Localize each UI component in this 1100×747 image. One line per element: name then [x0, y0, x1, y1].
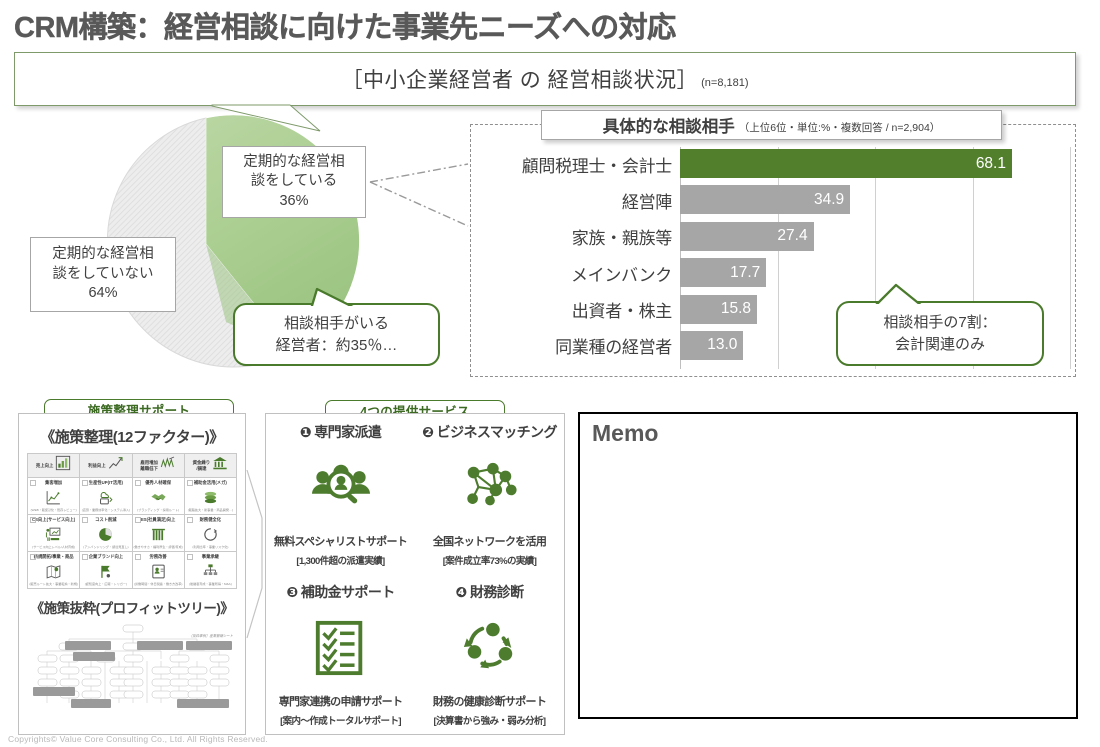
factor-cell-3[interactable]: 優秀人材確保(ブランディング・採用ルート)	[133, 478, 185, 515]
factor-icon	[150, 526, 167, 543]
service-number: ❶	[300, 424, 311, 440]
callout-tail-icon	[303, 286, 363, 310]
factor-header-4[interactable]: 資金繰り/調達	[185, 454, 237, 478]
factor-checkbox[interactable]	[82, 480, 88, 486]
bar-category-label: 家族・親族等	[478, 220, 672, 254]
factor-cell-2[interactable]: 生産性UP(IT活用)(店頭・業務効率化・システム導入)	[80, 478, 132, 515]
bar-category-label: 同業種の経営者	[478, 329, 672, 363]
factor-cell-sub: (販路拡大・新事業・商品開発…)	[188, 509, 233, 512]
factor-checkbox[interactable]	[135, 554, 141, 560]
bar-chart-icon	[55, 455, 71, 476]
service-title: ❸ 補助金サポート	[286, 582, 394, 602]
pie-label-has-consult: 定期的な経営相 談をしている 36%	[222, 146, 366, 218]
factor-checkbox[interactable]	[187, 554, 193, 560]
bar-chart-row: 家族・親族等27.4	[478, 220, 1070, 254]
factor-cell-1[interactable]: 集客増加(WEB・販促강化・既存レビュー)	[28, 478, 80, 515]
pie-label-has-consult-value: 36%	[279, 192, 308, 212]
profit-tree-note: ［抜粋事例］産業整理シート	[189, 634, 234, 638]
pie-label-no-consult-value: 64%	[88, 284, 117, 304]
bar-fill: 68.1	[680, 149, 1012, 178]
bar-fill: 34.9	[680, 185, 850, 214]
factor-checkbox[interactable]	[82, 554, 88, 560]
panel-policy-heading: 《施策整理(12ファクター)》	[19, 426, 245, 447]
factor-cell-sub: (ブランディング・採用ルート)	[137, 509, 179, 512]
bar-track: 27.4	[680, 220, 1070, 254]
service-desc-secondary: [案内～作成トータルサポート]	[280, 713, 401, 727]
bar-category-label: 経営陣	[478, 183, 672, 217]
map-pin-icon	[45, 559, 62, 583]
factor-icon	[202, 526, 219, 543]
factor-cell-sub: (利用比率・事業リスク化)	[192, 546, 228, 549]
factor-cell-9[interactable]: 新規開拓/事業・商品(販売ルート拡大・事業転換・新規)	[28, 552, 80, 589]
id-card-icon	[150, 559, 167, 583]
factor-cell-sub: (認知度向上・広報・トリガー)	[85, 583, 127, 586]
service-desc-primary: 無料スペシャリストサポート	[274, 533, 407, 549]
factor-icon	[97, 526, 114, 543]
factor-cell-sub: (後継者育成・事業所得・M&A)	[189, 583, 232, 586]
pie-label-has-consult-line1: 定期的な経営相	[243, 153, 345, 173]
survey-banner-title: ［中小企業経営者 の 経営相談状況］	[341, 64, 698, 94]
factor-cell-sub: (サービス向上レベル/人材育成)	[32, 546, 75, 549]
service-number: ❸	[286, 584, 297, 600]
factor-checkbox[interactable]	[135, 517, 141, 523]
service-desc-primary: 専門家連携の申請サポート	[279, 693, 403, 709]
footer-copyright: Copyrights© Value Core Consulting Co., L…	[8, 734, 268, 744]
profit-tree-heading: 《施策抜粋(プロフィットツリー)》	[19, 597, 245, 617]
scatter-icon	[45, 485, 62, 509]
factor-cell-12[interactable]: 事業承継(後継者育成・事業所得・M&A)	[185, 552, 237, 589]
service-title: ❹ 財務診断	[455, 582, 523, 602]
service-card-1[interactable]: ❶ 専門家派遣無料スペシャリストサポート[1,300件超の派遣実績]	[266, 414, 415, 574]
factor-header-label: 利益向上	[88, 463, 106, 468]
bar-fill: 13.0	[680, 331, 743, 360]
factor-checkbox[interactable]	[187, 517, 193, 523]
service-desc-secondary: [1,300件超の派遣実績]	[296, 553, 384, 567]
bar-fill: 15.8	[680, 295, 757, 324]
factor-icon	[150, 563, 167, 580]
service-card-4[interactable]: ❹ 財務診断財務の健康診断サポート[決算書から強み・弱み分析]	[415, 574, 564, 734]
factor-header-label: 雇用増加離職低下	[140, 460, 158, 470]
cloud-pc-icon	[97, 485, 114, 509]
flag-icon	[97, 559, 114, 583]
network-icon	[461, 442, 519, 533]
service-desc-primary: 財務の健康診断サポート	[433, 693, 546, 709]
bar-track: 34.9	[680, 183, 1070, 217]
callout-accounting-only-line1: 相談相手の7割：	[883, 312, 996, 334]
factor-header-3[interactable]: 雇用増加離職低下	[133, 454, 185, 478]
service-card-3[interactable]: ❸ 補助金サポート専門家連携の申請サポート[案内～作成トータルサポート]	[266, 574, 415, 734]
bar-category-label: メインバンク	[478, 256, 672, 290]
factor-icon	[202, 563, 219, 580]
bar-chart-row: 顧問税理士・会計士68.1	[478, 147, 1070, 181]
factor-checkbox[interactable]	[82, 517, 88, 523]
survey-banner: ［中小企業経営者 の 経営相談状況］ (n=8,181)	[14, 52, 1076, 106]
pie-label-has-consult-line2: 談をしている	[251, 172, 338, 192]
factor-icon	[45, 489, 62, 506]
pie-icon	[97, 522, 114, 546]
bar-chart-title-main: 具体的な相談相手	[603, 113, 735, 137]
people-search-icon	[312, 442, 370, 533]
cycle-icon	[202, 522, 219, 546]
factor-grid: 売上向上利益向上雇用増加離職低下資金繰り/調達集客増加(WEB・販促강化・既存レ…	[27, 453, 237, 589]
factor-icon	[160, 455, 176, 471]
factor-checkbox[interactable]	[187, 480, 193, 486]
factor-icon	[108, 455, 124, 471]
factor-checkbox[interactable]	[30, 480, 36, 486]
pie-label-no-consult-line1: 定期的な経営相	[52, 245, 154, 265]
factor-icon	[97, 489, 114, 506]
factor-header-label: 資金繰り/調達	[193, 460, 211, 470]
factor-cell-7[interactable]: ES(社員満足)向上(働きやすさ・福利厚生・評価/育成)	[133, 515, 185, 552]
callout-tail-icon	[866, 283, 930, 308]
org-chart-icon	[202, 559, 219, 583]
factor-cell-5[interactable]: CS向上(サービス向上)(サービス向上レベル/人材育成)	[28, 515, 80, 552]
line-chart-icon	[108, 455, 124, 476]
panel-policy-organize: 《施策整理(12ファクター)》 売上向上利益向上雇用増加離職低下資金繰り/調達集…	[18, 413, 246, 735]
factor-icon	[45, 526, 62, 543]
factor-cell-sub: (働きやすさ・福利厚生・評価/育成)	[133, 546, 182, 549]
handshake-icon	[150, 485, 167, 509]
checklist-icon	[312, 602, 370, 693]
factor-header-label: 売上向上	[36, 463, 54, 468]
pie-to-bar-connector	[368, 160, 478, 235]
bar-gridline	[1070, 147, 1071, 369]
bar-category-label: 出資者・株主	[478, 293, 672, 327]
factor-cell-sub: (店頭・業務効率化・システム導入)	[82, 509, 130, 512]
memo-label: Memo	[592, 420, 658, 447]
service-card-2[interactable]: ❷ ビジネスマッチング全国ネットワークを活用[案件成立率73%の実績]	[415, 414, 564, 574]
factor-cell-sub: (アンバンドリング・調達見直し)	[83, 546, 128, 549]
service-number: ❷	[422, 424, 433, 440]
panel-four-services: ❶ 専門家派遣無料スペシャリストサポート[1,300件超の派遣実績]❷ ビジネス…	[265, 413, 565, 735]
bar-fill: 17.7	[680, 258, 766, 287]
factor-checkbox[interactable]	[30, 554, 36, 560]
profit-tree-diagram: ［抜粋事例］産業整理シート	[29, 621, 235, 713]
factor-cell-10[interactable]: 企業ブランド向上(認知度向上・広報・トリガー)	[80, 552, 132, 589]
callout-consult-partner-line2: 経営者：約35％…	[276, 335, 398, 357]
factor-cell-4[interactable]: 補助金活用(メガ)(販路拡大・新事業・商品開発…)	[185, 478, 237, 515]
service-desc-secondary: [決算書から強み・弱み分析]	[434, 713, 546, 727]
pie-label-no-consult: 定期的な経営相 談をしていない 64%	[30, 237, 176, 312]
factor-checkbox[interactable]	[135, 480, 141, 486]
factor-header-2[interactable]: 利益向上	[80, 454, 132, 478]
callout-consult-partner-line1: 相談相手がいる	[284, 313, 389, 335]
factor-cell-sub: (WEB・販促강化・既存レビュー)	[31, 509, 77, 512]
survey-banner-note: (n=8,181)	[701, 77, 748, 89]
bar-fill: 27.4	[680, 222, 814, 251]
factor-cell-6[interactable]: コスト削減(アンバンドリング・調達見直し)	[80, 515, 132, 552]
memo-box[interactable]: Memo	[578, 412, 1078, 719]
service-desc-primary: 全国ネットワークを活用	[433, 533, 546, 549]
factor-cell-8[interactable]: 財務健全化(利用比率・事業リスク化)	[185, 515, 237, 552]
service-title: ❶ 専門家派遣	[300, 422, 382, 442]
factor-icon	[55, 455, 71, 471]
people-chart-icon	[160, 455, 176, 476]
coins-icon	[202, 485, 219, 509]
bar-track: 68.1	[680, 147, 1070, 181]
callout-accounting-only: 相談相手の7割： 会計関連のみ	[836, 301, 1044, 366]
cycle-arrows-icon	[461, 602, 519, 693]
factor-icon	[202, 489, 219, 506]
callout-consult-partner: 相談相手がいる 経営者：約35％…	[233, 303, 440, 366]
service-number: ❹	[455, 584, 466, 600]
callout-accounting-only-line2: 会計関連のみ	[895, 334, 985, 356]
bar-chart-title: 具体的な相談相手 （上位6位・単位:%・複数回答 / n=2,904）	[541, 110, 1002, 140]
factor-cell-sub: (販売ルート拡大・事業転換・新規)	[29, 583, 77, 586]
service-desc-secondary: [案件成立率73%の実績]	[443, 553, 537, 567]
bank-icon	[212, 455, 228, 476]
presenter-icon	[45, 522, 62, 546]
bar-chart-title-sub: （上位6位・単位:%・複数回答 / n=2,904）	[739, 120, 941, 135]
factor-icon	[212, 455, 228, 471]
bar-chart-row: 経営陣34.9	[478, 183, 1070, 217]
factor-checkbox[interactable]	[30, 517, 36, 523]
team-icon	[150, 522, 167, 546]
factor-icon	[97, 563, 114, 580]
bar-chart-row: メインバンク17.7	[478, 256, 1070, 290]
factor-icon	[45, 563, 62, 580]
bar-category-label: 顧問税理士・会計士	[478, 147, 672, 181]
profit-tree-svg: ［抜粋事例］産業整理シート	[29, 621, 237, 713]
service-title: ❷ ビジネスマッチング	[422, 422, 557, 442]
pie-label-no-consult-line2: 談をしていない	[52, 265, 153, 285]
factor-cell-sub: (労働時間・休日関連・働き方改革)	[134, 583, 182, 586]
factor-cell-11[interactable]: 労務改善(労働時間・休日関連・働き方改革)	[133, 552, 185, 589]
factor-icon	[150, 489, 167, 506]
page-title: CRM構築：経営相談に向けた事業先ニーズへの対応	[14, 4, 676, 46]
factor-header-1[interactable]: 売上向上	[28, 454, 80, 478]
